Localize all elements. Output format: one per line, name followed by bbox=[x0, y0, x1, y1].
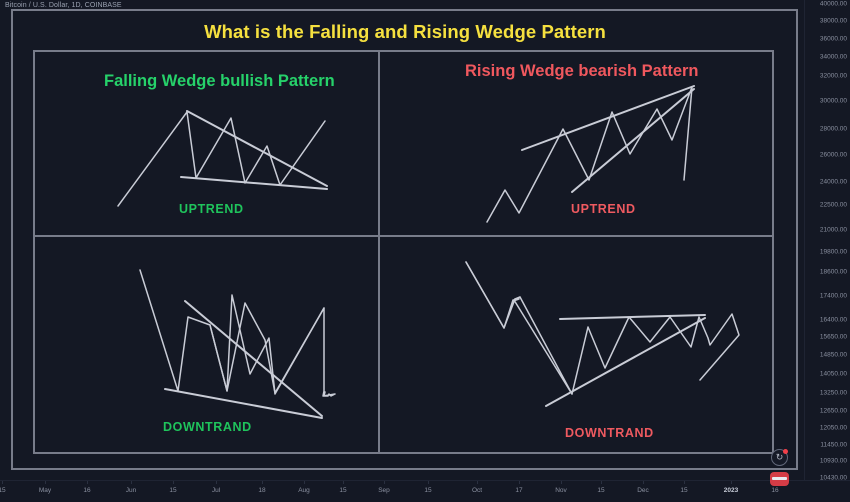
time-tick: 16 bbox=[83, 487, 90, 494]
quadrant-grid-frame[interactable] bbox=[33, 50, 774, 454]
quadrant-vertical-divider bbox=[378, 52, 380, 452]
price-axis[interactable]: 40000.0038000.0036000.0034000.0032000.00… bbox=[804, 0, 850, 481]
time-tick-notch bbox=[428, 481, 429, 484]
time-tick: Oct bbox=[472, 487, 482, 494]
price-tick: 16400.00 bbox=[820, 317, 847, 324]
price-tick: 26000.00 bbox=[820, 152, 847, 159]
time-tick-notch bbox=[731, 481, 732, 484]
trend-label-top-left: UPTREND bbox=[179, 202, 244, 216]
price-tick: 32000.00 bbox=[820, 73, 847, 80]
price-tick: 14050.00 bbox=[820, 371, 847, 378]
time-tick: 15 bbox=[169, 487, 176, 494]
tradingview-chart-screenshot: Bitcoin / U.S. Dollar, 1D, COINBASE What… bbox=[0, 0, 850, 502]
time-tick-notch bbox=[131, 481, 132, 484]
time-tick: 18 bbox=[258, 487, 265, 494]
time-tick: May bbox=[39, 487, 51, 494]
price-tick: 38000.00 bbox=[820, 18, 847, 25]
time-tick: Aug bbox=[298, 487, 310, 494]
time-tick-notch bbox=[2, 481, 3, 484]
time-tick-notch bbox=[304, 481, 305, 484]
time-tick: Jun bbox=[126, 487, 136, 494]
time-tick-notch bbox=[216, 481, 217, 484]
time-tick: 15 bbox=[597, 487, 604, 494]
time-tick: Nov bbox=[555, 487, 567, 494]
price-tick: 34000.00 bbox=[820, 54, 847, 61]
price-tick: 18600.00 bbox=[820, 269, 847, 276]
price-tick: 30000.00 bbox=[820, 98, 847, 105]
time-tick: 16 bbox=[771, 487, 778, 494]
price-tick: 24000.00 bbox=[820, 179, 847, 186]
time-tick-notch bbox=[87, 481, 88, 484]
time-tick-notch bbox=[643, 481, 644, 484]
price-tick: 36000.00 bbox=[820, 36, 847, 43]
time-tick-notch bbox=[684, 481, 685, 484]
time-tick-notch bbox=[262, 481, 263, 484]
price-tick: 28000.00 bbox=[820, 126, 847, 133]
time-tick: 15 bbox=[339, 487, 346, 494]
quadrant-horizontal-divider bbox=[33, 235, 774, 237]
time-tick: 17 bbox=[515, 487, 522, 494]
time-tick-notch bbox=[343, 481, 344, 484]
alert-badge[interactable] bbox=[770, 472, 789, 486]
trend-label-bottom-left: DOWNTRAND bbox=[163, 420, 252, 434]
time-tick-notch bbox=[384, 481, 385, 484]
time-tick-notch bbox=[45, 481, 46, 484]
alert-badge-bar bbox=[772, 477, 787, 480]
price-tick: 12650.00 bbox=[820, 408, 847, 415]
price-tick: 14850.00 bbox=[820, 352, 847, 359]
time-tick: 15 bbox=[680, 487, 687, 494]
price-tick: 22500.00 bbox=[820, 202, 847, 209]
time-tick: 15 bbox=[424, 487, 431, 494]
price-tick: 17400.00 bbox=[820, 293, 847, 300]
time-tick: 15 bbox=[0, 487, 6, 494]
time-tick-notch bbox=[561, 481, 562, 484]
symbol-legend[interactable]: Bitcoin / U.S. Dollar, 1D, COINBASE bbox=[5, 2, 122, 9]
trend-label-top-right: UPTREND bbox=[571, 202, 636, 216]
time-tick: Dec bbox=[637, 487, 649, 494]
price-tick: 15650.00 bbox=[820, 334, 847, 341]
time-tick: Jul bbox=[212, 487, 220, 494]
price-tick: 13250.00 bbox=[820, 390, 847, 397]
price-tick: 21000.00 bbox=[820, 227, 847, 234]
time-tick-notch bbox=[477, 481, 478, 484]
trend-label-bottom-right: DOWNTRAND bbox=[565, 426, 654, 440]
time-tick-notch bbox=[601, 481, 602, 484]
rising-wedge-heading: Rising Wedge bearish Pattern bbox=[465, 62, 699, 81]
replay-status-dot bbox=[783, 449, 788, 454]
price-tick: 11450.00 bbox=[820, 442, 847, 449]
time-tick: 2023 bbox=[724, 487, 738, 494]
price-tick: 12050.00 bbox=[820, 425, 847, 432]
time-tick-notch bbox=[519, 481, 520, 484]
time-tick: Sep bbox=[378, 487, 390, 494]
time-axis[interactable]: 15May16Jun15Jul18Aug15Sep15Oct17Nov15Dec… bbox=[0, 480, 850, 502]
price-tick: 40000.00 bbox=[820, 1, 847, 8]
replay-icon[interactable]: ↻ bbox=[771, 449, 788, 466]
page-title: What is the Falling and Rising Wedge Pat… bbox=[0, 21, 810, 43]
price-tick: 10930.00 bbox=[820, 458, 847, 465]
price-tick: 19800.00 bbox=[820, 249, 847, 256]
falling-wedge-heading: Falling Wedge bullish Pattern bbox=[104, 72, 335, 91]
time-tick-notch bbox=[173, 481, 174, 484]
